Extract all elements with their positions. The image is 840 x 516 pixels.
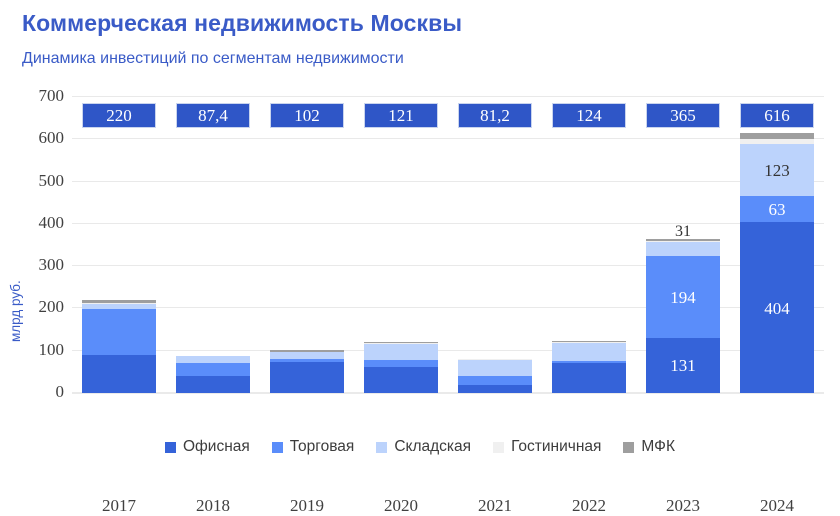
legend-label: Офисная [183,438,250,456]
bar-segment[interactable] [552,342,626,343]
legend-item[interactable]: МФК [623,438,675,456]
bar-segment[interactable] [552,341,626,342]
bar-segment[interactable] [364,343,438,360]
x-axis-tick-label: 2024 [740,496,814,516]
x-axis-tick-label: 2020 [364,496,438,516]
bar-total-label: 365 [646,103,720,128]
legend-label: МФК [641,438,675,456]
bar-segment[interactable] [270,350,344,352]
legend-swatch-icon [493,442,504,453]
legend-swatch-icon [376,442,387,453]
bar-column[interactable]: 4046312316 [740,97,814,393]
x-axis-tick-label: 2018 [176,496,250,516]
bar-total-label: 124 [552,103,626,128]
bar-segment[interactable] [364,342,438,343]
bar-column[interactable] [176,97,250,393]
bar-segment[interactable] [552,361,626,363]
x-axis-tick-label: 2021 [458,496,532,516]
bar-total-label: 87,4 [176,103,250,128]
bar-segment-label: 404 [740,300,814,317]
bar-segment[interactable] [364,367,438,393]
bar-segment[interactable] [458,360,532,376]
legend-swatch-icon [272,442,283,453]
bar-total-label: 220 [82,103,156,128]
bar-segment[interactable] [458,376,532,386]
page-subtitle: Динамика инвестиций по сегментам недвижи… [22,50,404,68]
y-axis-tick-label: 0 [20,382,64,402]
bar-total-label: 81,2 [458,103,532,128]
bar-segment[interactable] [740,139,814,143]
bar-segment-label: 123 [740,162,814,179]
bar-column[interactable] [364,97,438,393]
legend-label: Гостиничная [511,438,601,456]
bar-column[interactable] [458,97,532,393]
bar-segment[interactable] [82,300,156,303]
legend-item[interactable]: Торговая [272,438,355,456]
bar-segment-label: 131 [646,357,720,374]
bar-segment[interactable] [458,385,532,393]
legend-swatch-icon [165,442,176,453]
chart-legend: ОфиснаяТорговаяСкладскаяГостиничнаяМФК [0,438,840,456]
y-axis-tick-label: 300 [20,255,64,275]
y-axis-tick-label: 400 [20,213,64,233]
bar-segment[interactable] [270,362,344,393]
bar-segment[interactable] [646,242,720,255]
x-axis-tick-label: 2019 [270,496,344,516]
bar-segment[interactable] [646,239,720,242]
bar-segment[interactable] [364,360,438,366]
legend-item[interactable]: Офисная [165,438,250,456]
bar-total-label: 121 [364,103,438,128]
legend-item[interactable]: Гостиничная [493,438,601,456]
y-axis-tick-label: 700 [20,86,64,106]
bar-total-label: 102 [270,103,344,128]
bar-segment[interactable] [552,363,626,393]
plot-area: 0100200300400500600700 13119431404631231… [72,96,824,393]
chart-page: Коммерческая недвижимость Москвы Динамик… [0,0,840,479]
x-axis-tick-label: 2023 [646,496,720,516]
bar-segment[interactable] [458,359,532,360]
bar-segment[interactable] [82,304,156,309]
bar-segment-label: 194 [646,289,720,306]
bar-segment[interactable] [270,359,344,362]
bar-segment-label: 63 [740,201,814,218]
y-axis-tick-label: 600 [20,128,64,148]
legend-label: Торговая [290,438,355,456]
bar-segment[interactable] [82,303,156,304]
bar-segment[interactable] [646,241,720,242]
legend-label: Складская [394,438,471,456]
y-axis-tick-label: 100 [20,340,64,360]
bar-total-label: 616 [740,103,814,128]
bar-segment[interactable] [176,376,250,393]
legend-item[interactable]: Складская [376,438,471,456]
page-title: Коммерческая недвижимость Москвы [22,10,462,37]
bar-segment[interactable] [740,133,814,140]
bar-segment[interactable] [176,363,250,376]
x-axis-tick-label: 2017 [82,496,156,516]
bar-segment[interactable] [82,309,156,355]
bar-column[interactable] [270,97,344,393]
y-axis-tick-label: 500 [20,171,64,191]
legend-swatch-icon [623,442,634,453]
y-axis-tick-label: 200 [20,297,64,317]
bar-segment[interactable] [82,355,156,393]
x-axis-tick-label: 2022 [552,496,626,516]
bar-column[interactable]: 13119431 [646,97,720,393]
bar-segment[interactable] [552,343,626,362]
bar-segment[interactable] [176,356,250,364]
y-axis-title: млрд руб. [8,222,23,342]
bar-segment[interactable] [270,352,344,359]
bar-column[interactable] [552,97,626,393]
bar-column[interactable] [82,97,156,393]
